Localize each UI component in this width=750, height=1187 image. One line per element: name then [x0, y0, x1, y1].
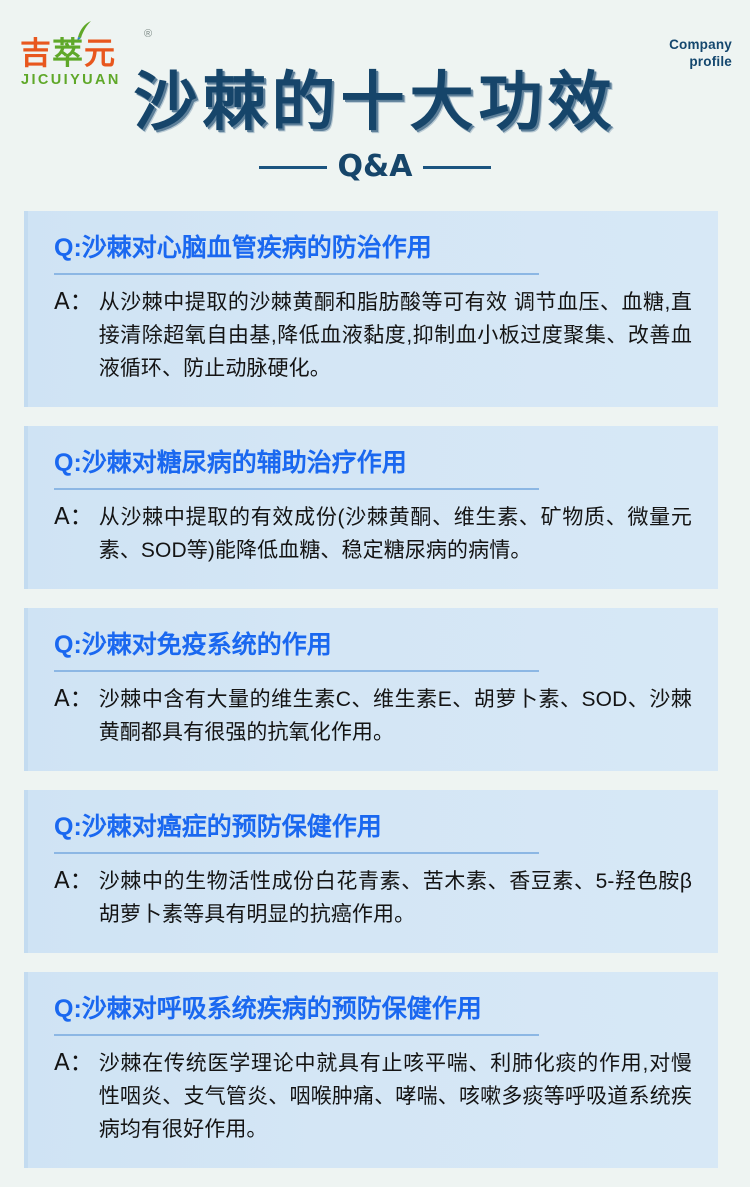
answer-row: A： 从沙棘中提取的有效成份(沙棘黄酮、维生素、矿物质、微量元素、SOD等)能降… [54, 501, 692, 567]
divider-rule-right [423, 166, 491, 169]
qa-subtitle-divider: Q&A [0, 150, 750, 184]
answer-row: A： 沙棘中的生物活性成份白花青素、苦木素、香豆素、5-羟色胺β胡萝卜素等具有明… [54, 865, 692, 931]
qa-card: Q:沙棘对呼吸系统疾病的预防保健作用 A： 沙棘在传统医学理论中就具有止咳平喘、… [24, 972, 718, 1168]
qa-card: Q:沙棘对心脑血管疾病的防治作用 A： 从沙棘中提取的沙棘黄酮和脂肪酸等可有效 … [24, 211, 718, 407]
question-text: Q:沙棘对心脑血管疾病的防治作用 [54, 234, 432, 262]
answer-text: 沙棘在传统医学理论中就具有止咳平喘、利肺化痰的作用,对慢性咽炎、支气管炎、咽喉肿… [99, 1047, 692, 1146]
question-underline [54, 1034, 539, 1036]
registered-trademark-icon: ® [144, 28, 152, 40]
question-text: Q:沙棘对呼吸系统疾病的预防保健作用 [54, 995, 482, 1023]
answer-row: A： 从沙棘中提取的沙棘黄酮和脂肪酸等可有效 调节血压、血糖,直接清除超氧自由基… [54, 286, 692, 385]
answer-label: A： [54, 1047, 99, 1080]
page-title: 沙棘的十大功效 [0, 66, 750, 140]
page-header: 吉萃元 ® JICUIYUAN Company profile 沙棘的十大功效 … [0, 0, 750, 205]
qa-card: Q:沙棘对癌症的预防保健作用 A： 沙棘中的生物活性成份白花青素、苦木素、香豆素… [24, 790, 718, 953]
question-underline [54, 273, 539, 275]
answer-label: A： [54, 865, 99, 898]
answer-text: 沙棘中的生物活性成份白花青素、苦木素、香豆素、5-羟色胺β胡萝卜素等具有明显的抗… [99, 865, 692, 931]
question-text: Q:沙棘对糖尿病的辅助治疗作用 [54, 449, 407, 477]
divider-rule-left [259, 166, 327, 169]
question-row: Q:沙棘对癌症的预防保健作用 [54, 812, 692, 843]
question-underline [54, 488, 539, 490]
question-row: Q:沙棘对糖尿病的辅助治疗作用 [54, 448, 692, 479]
answer-text: 沙棘中含有大量的维生素C、维生素E、胡萝卜素、SOD、沙棘黄酮都具有很强的抗氧化… [99, 683, 692, 749]
qa-subtitle: Q&A [338, 150, 413, 184]
question-underline [54, 670, 539, 672]
question-text: Q:沙棘对免疫系统的作用 [54, 631, 332, 659]
answer-text: 从沙棘中提取的有效成份(沙棘黄酮、维生素、矿物质、微量元素、SOD等)能降低血糖… [99, 501, 692, 567]
qa-card-list: Q:沙棘对心脑血管疾病的防治作用 A： 从沙棘中提取的沙棘黄酮和脂肪酸等可有效 … [0, 211, 750, 1187]
answer-label: A： [54, 286, 99, 319]
company-profile-line-1: Company [669, 36, 732, 53]
question-text: Q:沙棘对癌症的预防保健作用 [54, 813, 382, 841]
question-row: Q:沙棘对心脑血管疾病的防治作用 [54, 233, 692, 264]
answer-label: A： [54, 683, 99, 716]
answer-label: A： [54, 501, 99, 534]
question-row: Q:沙棘对免疫系统的作用 [54, 630, 692, 661]
qa-card: Q:沙棘对糖尿病的辅助治疗作用 A： 从沙棘中提取的有效成份(沙棘黄酮、维生素、… [24, 426, 718, 589]
qa-card: Q:沙棘对免疫系统的作用 A： 沙棘中含有大量的维生素C、维生素E、胡萝卜素、S… [24, 608, 718, 771]
answer-text: 从沙棘中提取的沙棘黄酮和脂肪酸等可有效 调节血压、血糖,直接清除超氧自由基,降低… [99, 286, 692, 385]
answer-row: A： 沙棘中含有大量的维生素C、维生素E、胡萝卜素、SOD、沙棘黄酮都具有很强的… [54, 683, 692, 749]
question-row: Q:沙棘对呼吸系统疾病的预防保健作用 [54, 994, 692, 1025]
question-underline [54, 852, 539, 854]
answer-row: A： 沙棘在传统医学理论中就具有止咳平喘、利肺化痰的作用,对慢性咽炎、支气管炎、… [54, 1047, 692, 1146]
